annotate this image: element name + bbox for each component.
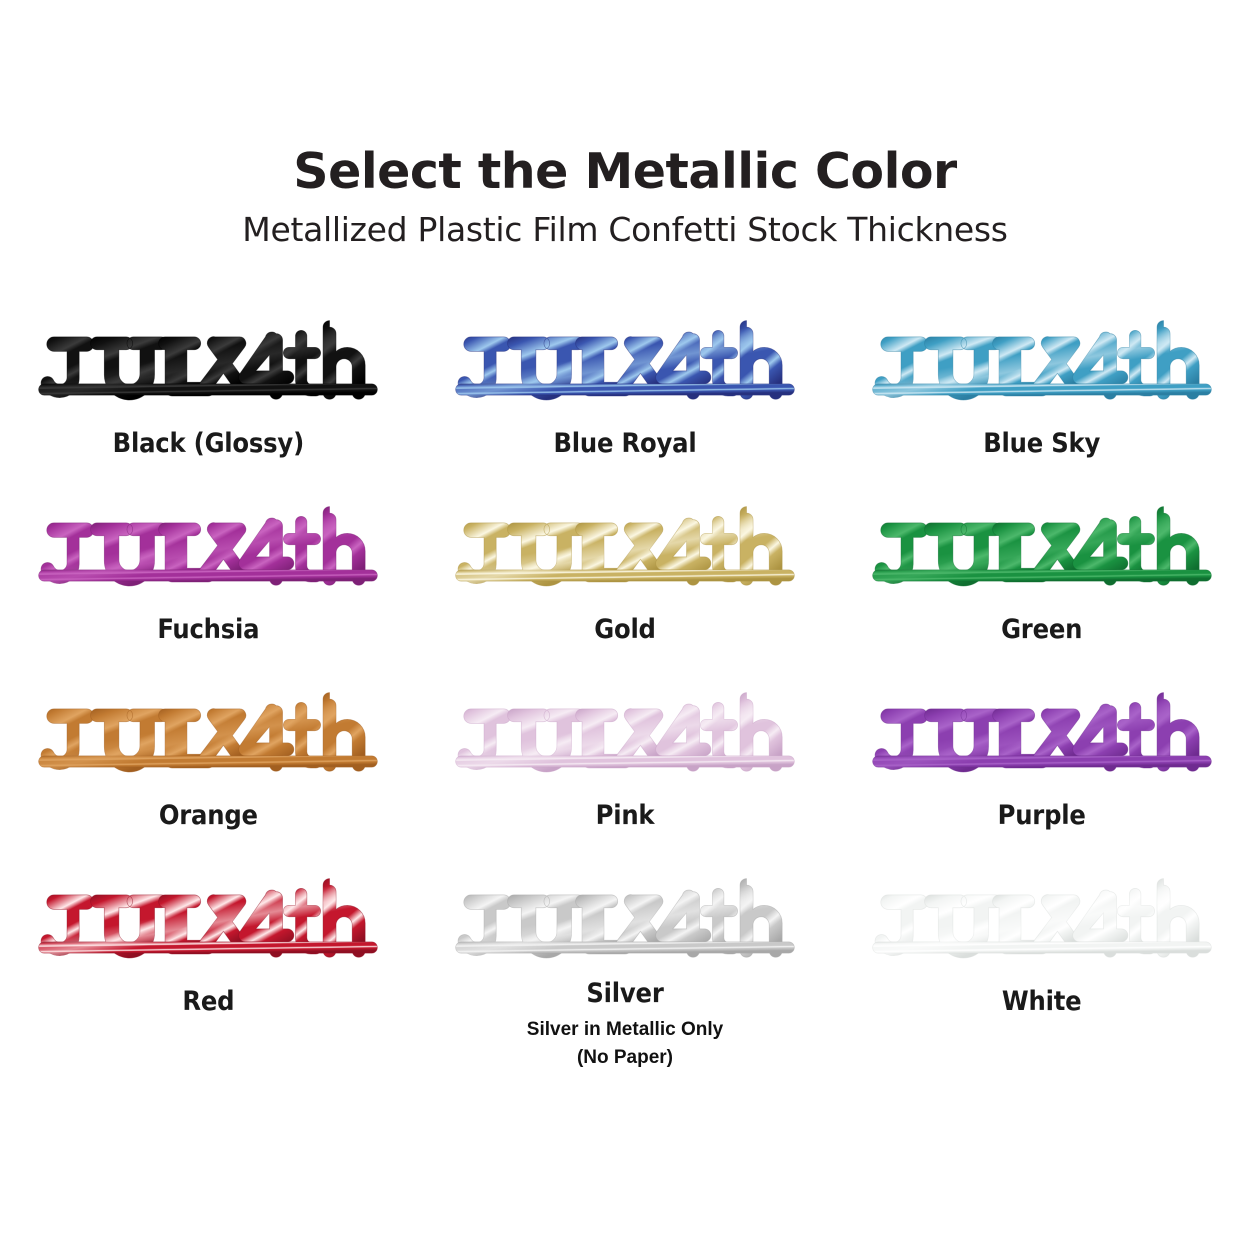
july-4th-wordmark: [867, 690, 1217, 786]
page-title: Select the Metallic Color: [0, 146, 1250, 199]
swatch-art: [22, 690, 394, 794]
color-swatch-fuchsia[interactable]: Fuchsia: [0, 498, 417, 684]
heading-block: Select the Metallic Color Metallized Pla…: [0, 146, 1250, 250]
swatch-note-line-1: Silver in Metallic Only: [527, 1016, 723, 1044]
color-swatch-pink[interactable]: Pink: [417, 684, 834, 870]
swatch-art: [22, 876, 394, 980]
july-4th-wordmark: [450, 504, 800, 600]
swatch-art: [856, 318, 1228, 422]
color-swatch-orange[interactable]: Orange: [0, 684, 417, 870]
swatch-label: Black (Glossy): [113, 428, 304, 459]
color-swatch-blue-royal[interactable]: Blue Royal: [417, 312, 834, 498]
july-4th-wordmark: [33, 318, 383, 414]
swatch-label: Silver: [586, 978, 663, 1009]
wordmark-container: [867, 690, 1217, 786]
color-swatch-grid: Black (Glossy)Blue RoyalBlue SkyFuchsiaG…: [0, 312, 1250, 1056]
july-4th-wordmark: [450, 876, 800, 972]
wordmark-container: [450, 318, 800, 414]
swatch-label: Gold: [594, 614, 656, 645]
swatch-art: [856, 876, 1228, 980]
wordmark-container: [33, 876, 383, 972]
july-4th-wordmark: [33, 504, 383, 600]
wordmark-container: [33, 318, 383, 414]
swatch-note: Silver in Metallic Only(No Paper): [527, 1016, 723, 1071]
swatch-label: Orange: [159, 800, 258, 831]
swatch-art: [439, 504, 811, 608]
color-swatch-blue-sky[interactable]: Blue Sky: [833, 312, 1250, 498]
swatch-art: [856, 690, 1228, 794]
july-4th-wordmark: [33, 876, 383, 972]
swatch-art: [856, 504, 1228, 608]
color-swatch-silver[interactable]: SilverSilver in Metallic Only(No Paper): [417, 870, 834, 1056]
july-4th-wordmark: [867, 504, 1217, 600]
wordmark-container: [33, 690, 383, 786]
wordmark-container: [867, 876, 1217, 972]
swatch-label: Pink: [596, 800, 655, 831]
color-swatch-red[interactable]: Red: [0, 870, 417, 1056]
color-swatch-white[interactable]: White: [833, 870, 1250, 1056]
color-swatch-gold[interactable]: Gold: [417, 498, 834, 684]
wordmark-container: [450, 504, 800, 600]
color-swatch-black-glossy[interactable]: Black (Glossy): [0, 312, 417, 498]
swatch-label: Blue Royal: [553, 428, 696, 459]
swatch-label: Red: [182, 986, 234, 1017]
wordmark-container: [867, 318, 1217, 414]
color-selection-page: Select the Metallic Color Metallized Pla…: [0, 0, 1250, 1250]
swatch-art: [22, 318, 394, 422]
swatch-art: [439, 876, 811, 972]
swatch-label: Blue Sky: [983, 428, 1100, 459]
july-4th-wordmark: [33, 690, 383, 786]
july-4th-wordmark: [867, 876, 1217, 972]
wordmark-container: [33, 504, 383, 600]
swatch-label: White: [1002, 986, 1082, 1017]
wordmark-container: [867, 504, 1217, 600]
swatch-art: [22, 504, 394, 608]
swatch-label: Purple: [998, 800, 1086, 831]
july-4th-wordmark: [450, 318, 800, 414]
july-4th-wordmark: [450, 690, 800, 786]
swatch-label: Fuchsia: [157, 614, 259, 645]
july-4th-wordmark: [867, 318, 1217, 414]
wordmark-container: [450, 876, 800, 972]
page-subtitle: Metallized Plastic Film Confetti Stock T…: [0, 209, 1250, 250]
swatch-label: Green: [1001, 614, 1082, 645]
swatch-note-line-2: (No Paper): [527, 1044, 723, 1072]
swatch-art: [439, 318, 811, 422]
swatch-art: [439, 690, 811, 794]
color-swatch-green[interactable]: Green: [833, 498, 1250, 684]
wordmark-container: [450, 690, 800, 786]
color-swatch-purple[interactable]: Purple: [833, 684, 1250, 870]
